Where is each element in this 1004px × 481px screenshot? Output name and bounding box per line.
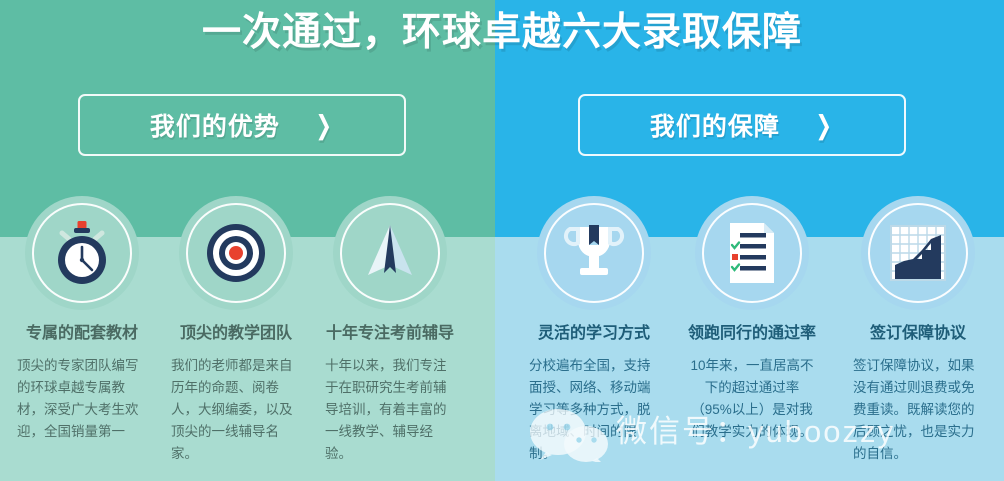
checklist-document-icon bbox=[716, 217, 788, 289]
card-body: 顶尖的专家团队编写的环球卓越专属教材，深受广大考生欢迎，全国销量第一 bbox=[4, 355, 160, 443]
card-title: 顶尖的教学团队 bbox=[158, 324, 314, 344]
icon-disc bbox=[179, 196, 293, 310]
card-title: 签订保障协议 bbox=[840, 324, 996, 344]
card-title: 专属的配套教材 bbox=[4, 324, 160, 344]
trophy-icon bbox=[558, 217, 630, 289]
icon-disc bbox=[695, 196, 809, 310]
stopwatch-icon bbox=[46, 217, 118, 289]
icon-disc bbox=[861, 196, 975, 310]
card-body: 十年以来，我们专注于在职研究生考前辅导培训，有着丰富的一线教学、辅导经验。 bbox=[312, 355, 468, 465]
feature-card-guarantee-agreement[interactable]: 签订保障协议 签订保障协议，如果没有通过则退费或免费重读。既解读您的后顾之忧，也… bbox=[840, 196, 996, 465]
card-body: 我们的老师都是来自历年的命题、阅卷人，大纲编委，以及顶尖的一线辅导名家。 bbox=[158, 355, 314, 465]
icon-disc bbox=[25, 196, 139, 310]
card-title: 十年专注考前辅导 bbox=[312, 324, 468, 344]
feature-card-teaching-team[interactable]: 顶尖的教学团队 我们的老师都是来自历年的命题、阅卷人，大纲编委，以及顶尖的一线辅… bbox=[158, 196, 314, 465]
promo-banner: 一次通过，环球卓越六大录取保障 我们的优势 ❯ 我们的保障 ❯ bbox=[0, 0, 1004, 481]
feature-card-flexible-study[interactable]: 灵活的学习方式 分校遍布全国，支持面授、网络、移动端学习等多种方式，脱离地域、时… bbox=[516, 196, 672, 465]
bar-chart-growth-icon bbox=[882, 217, 954, 289]
card-body: 签订保障协议，如果没有通过则退费或免费重读。既解读您的后顾之忧，也是实力的自信。 bbox=[840, 355, 996, 465]
card-body: 10年来，一直居高不下的超过通过率（95%以上）是对我们教学实力的体现。 bbox=[674, 355, 830, 443]
icon-disc bbox=[537, 196, 651, 310]
bullseye-target-icon bbox=[200, 217, 272, 289]
feature-card-pass-rate[interactable]: 领跑同行的通过率 10年来，一直居高不下的超过通过率（95%以上）是对我们教学实… bbox=[674, 196, 830, 443]
paper-plane-icon bbox=[354, 217, 426, 289]
icon-disc bbox=[333, 196, 447, 310]
feature-card-grid: 专属的配套教材 顶尖的专家团队编写的环球卓越专属教材，深受广大考生欢迎，全国销量… bbox=[0, 0, 1004, 481]
card-title: 领跑同行的通过率 bbox=[674, 324, 830, 344]
card-body: 分校遍布全国，支持面授、网络、移动端学习等多种方式，脱离地域、时间的限制。 bbox=[516, 355, 672, 465]
feature-card-ten-years[interactable]: 十年专注考前辅导 十年以来，我们专注于在职研究生考前辅导培训，有着丰富的一线教学… bbox=[312, 196, 468, 465]
feature-card-textbooks[interactable]: 专属的配套教材 顶尖的专家团队编写的环球卓越专属教材，深受广大考生欢迎，全国销量… bbox=[4, 196, 160, 443]
card-title: 灵活的学习方式 bbox=[516, 324, 672, 344]
